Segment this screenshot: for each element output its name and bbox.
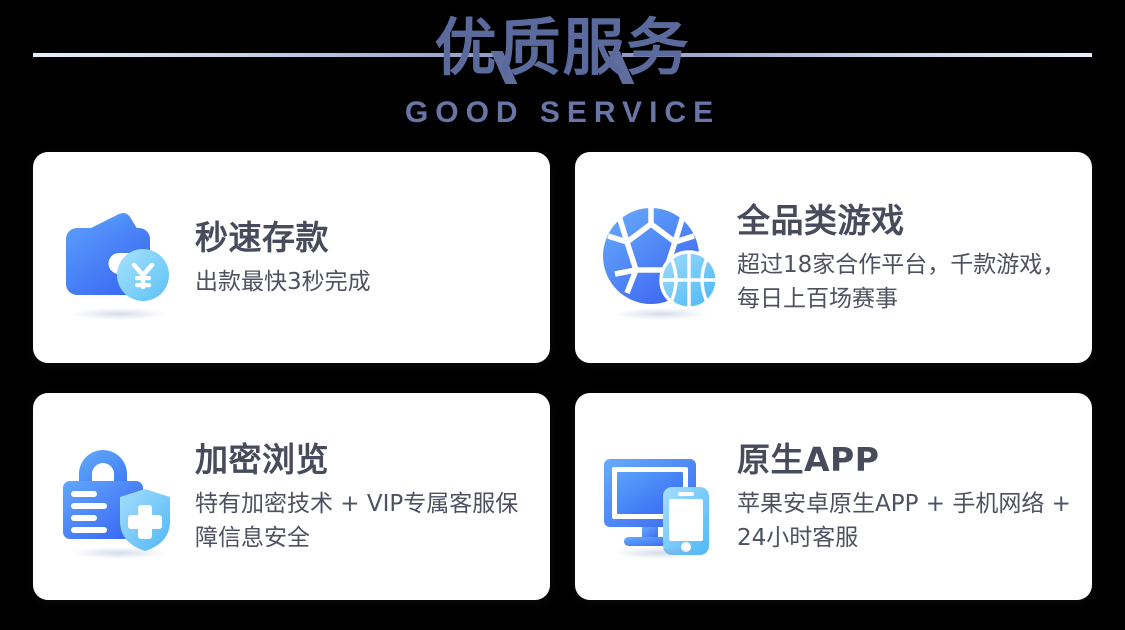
icon-shadow [71, 547, 167, 559]
page-title: 优质服务 [0, 12, 1125, 84]
feature-card-grid: 秒速存款 出款最快3秒完成 [33, 152, 1092, 600]
monitor-phone-icon [599, 437, 727, 557]
page-header: 优质服务 GOOD SERVICE [0, 0, 1125, 150]
card-title: 原生APP [737, 439, 1077, 481]
soccer-basketball-icon-svg [599, 198, 727, 318]
card-text-block: 秒速存款 出款最快3秒完成 [195, 217, 371, 299]
lock-shield-icon-svg [57, 437, 185, 557]
monitor-phone-icon-svg [599, 437, 727, 557]
icon-shadow [71, 308, 167, 320]
feature-card-deposit[interactable]: 秒速存款 出款最快3秒完成 [33, 152, 550, 363]
card-text-block: 加密浏览 特有加密技术 + VIP专属客服保障信息安全 [195, 439, 535, 555]
card-title: 全品类游戏 [737, 200, 1077, 242]
card-subtitle: 出款最快3秒完成 [195, 265, 371, 299]
icon-shadow [613, 308, 709, 320]
card-subtitle: 苹果安卓原生APP + 手机网络 + 24小时客服 [737, 487, 1077, 555]
card-text-block: 原生APP 苹果安卓原生APP + 手机网络 + 24小时客服 [737, 439, 1077, 555]
wallet-icon-svg [57, 198, 185, 318]
lock-shield-icon [57, 437, 185, 557]
feature-card-native-app[interactable]: 原生APP 苹果安卓原生APP + 手机网络 + 24小时客服 [575, 393, 1092, 600]
card-title: 加密浏览 [195, 439, 535, 481]
card-subtitle: 特有加密技术 + VIP专属客服保障信息安全 [195, 487, 535, 555]
feature-card-games[interactable]: 全品类游戏 超过18家合作平台，千款游戏，每日上百场赛事 [575, 152, 1092, 363]
card-subtitle: 超过18家合作平台，千款游戏，每日上百场赛事 [737, 248, 1077, 316]
soccer-basketball-icon [599, 198, 727, 318]
card-title: 秒速存款 [195, 217, 371, 259]
page-subtitle: GOOD SERVICE [0, 96, 1125, 130]
icon-shadow [613, 547, 709, 559]
card-text-block: 全品类游戏 超过18家合作平台，千款游戏，每日上百场赛事 [737, 200, 1077, 316]
feature-card-encryption[interactable]: 加密浏览 特有加密技术 + VIP专属客服保障信息安全 [33, 393, 550, 600]
wallet-icon [57, 198, 185, 318]
